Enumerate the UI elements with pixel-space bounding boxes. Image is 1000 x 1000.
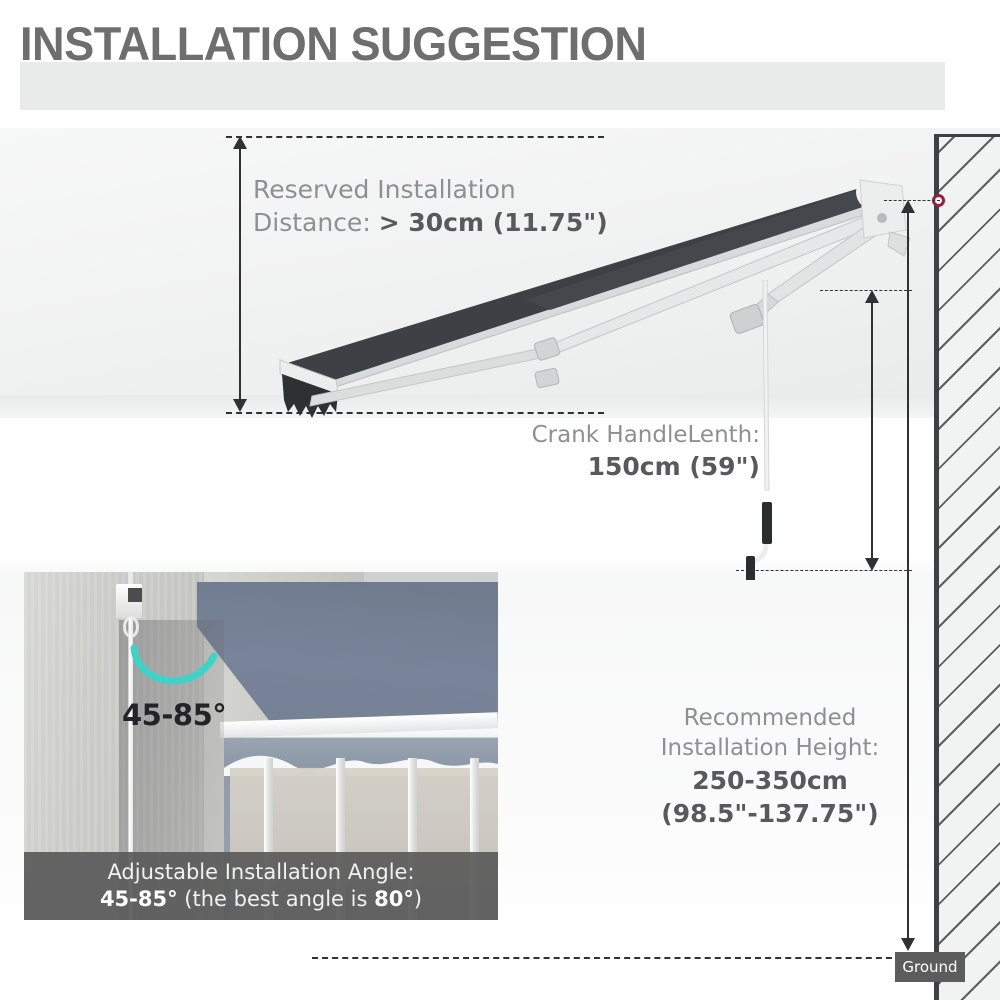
awning-arm-joint-2 <box>535 368 560 388</box>
ground-line <box>312 957 902 959</box>
ground-label: Ground <box>895 952 965 982</box>
height-label-line2: Installation Height: <box>620 733 920 763</box>
callout-installation-height: Recommended Installation Height: 250-350… <box>620 703 920 830</box>
inset-caption-end: ) <box>414 887 422 911</box>
reserved-label-line2: Distance: <box>253 208 371 237</box>
angle-arc-icon <box>128 642 220 702</box>
reserved-top-dash <box>226 136 604 138</box>
inset-bracket-shadow <box>128 588 142 602</box>
reserved-dimension-line <box>239 140 241 408</box>
wall-column <box>934 136 1000 1000</box>
height-arrow-bottom-icon <box>901 938 915 951</box>
reserved-bottom-dash <box>226 412 604 414</box>
crank-bottom-dash <box>736 570 912 571</box>
height-dimension-line <box>907 204 909 948</box>
reserved-arrow-top-icon <box>233 136 247 149</box>
height-label-line1: Recommended <box>620 703 920 733</box>
crank-rod <box>763 280 769 490</box>
reserved-arrow-bottom-icon <box>233 399 247 412</box>
page-title: INSTALLATION SUGGESTION <box>20 16 646 71</box>
awning-bracket-bolt <box>877 213 887 223</box>
reserved-label-line2-row: Distance: > 30cm (11.75") <box>253 206 673 239</box>
crank-lower-grip <box>746 556 755 580</box>
crank-upper-grip <box>762 502 772 544</box>
wall-hatch-pattern <box>939 136 1000 1000</box>
awning-wall-bracket <box>860 180 906 238</box>
inset-caption-mid: (the best angle is <box>178 887 375 911</box>
wall-top-edge <box>934 134 1000 137</box>
reserved-value: > 30cm (11.75") <box>379 208 608 237</box>
inset-caption-band: Adjustable Installation Angle: 45-85° (t… <box>24 852 498 920</box>
inset-angle-value: 45-85° <box>122 698 226 732</box>
height-value-line1: 250-350cm <box>620 764 920 797</box>
height-arrow-top-icon <box>901 200 915 213</box>
awning-arm-joint-1 <box>534 337 560 361</box>
callout-reserved-distance: Reserved Installation Distance: > 30cm (… <box>253 173 673 239</box>
inset-caption-range: 45-85° <box>100 887 178 911</box>
height-value-line2: (98.5"-137.75") <box>620 797 920 830</box>
crank-value: 150cm (59") <box>470 450 760 483</box>
inset-caption-label-row: Adjustable Installation Angle: <box>107 859 414 886</box>
callout-crank-handle: Crank HandleLenth: 150cm (59") <box>470 420 760 483</box>
inset-caption-value-row: 45-85° (the best angle is 80°) <box>100 886 422 913</box>
crank-label: Crank HandleLenth: <box>470 420 760 450</box>
crank-arrow-top-icon <box>865 290 879 303</box>
inset-caption-best-angle: 80° <box>374 887 414 911</box>
installation-diagram: INSTALLATION SUGGESTION <box>0 0 1000 1000</box>
inset-caption-label: Adjustable Installation Angle: <box>107 860 414 884</box>
reserved-label-line1: Reserved Installation <box>253 173 673 206</box>
crank-dimension-line <box>871 294 873 568</box>
